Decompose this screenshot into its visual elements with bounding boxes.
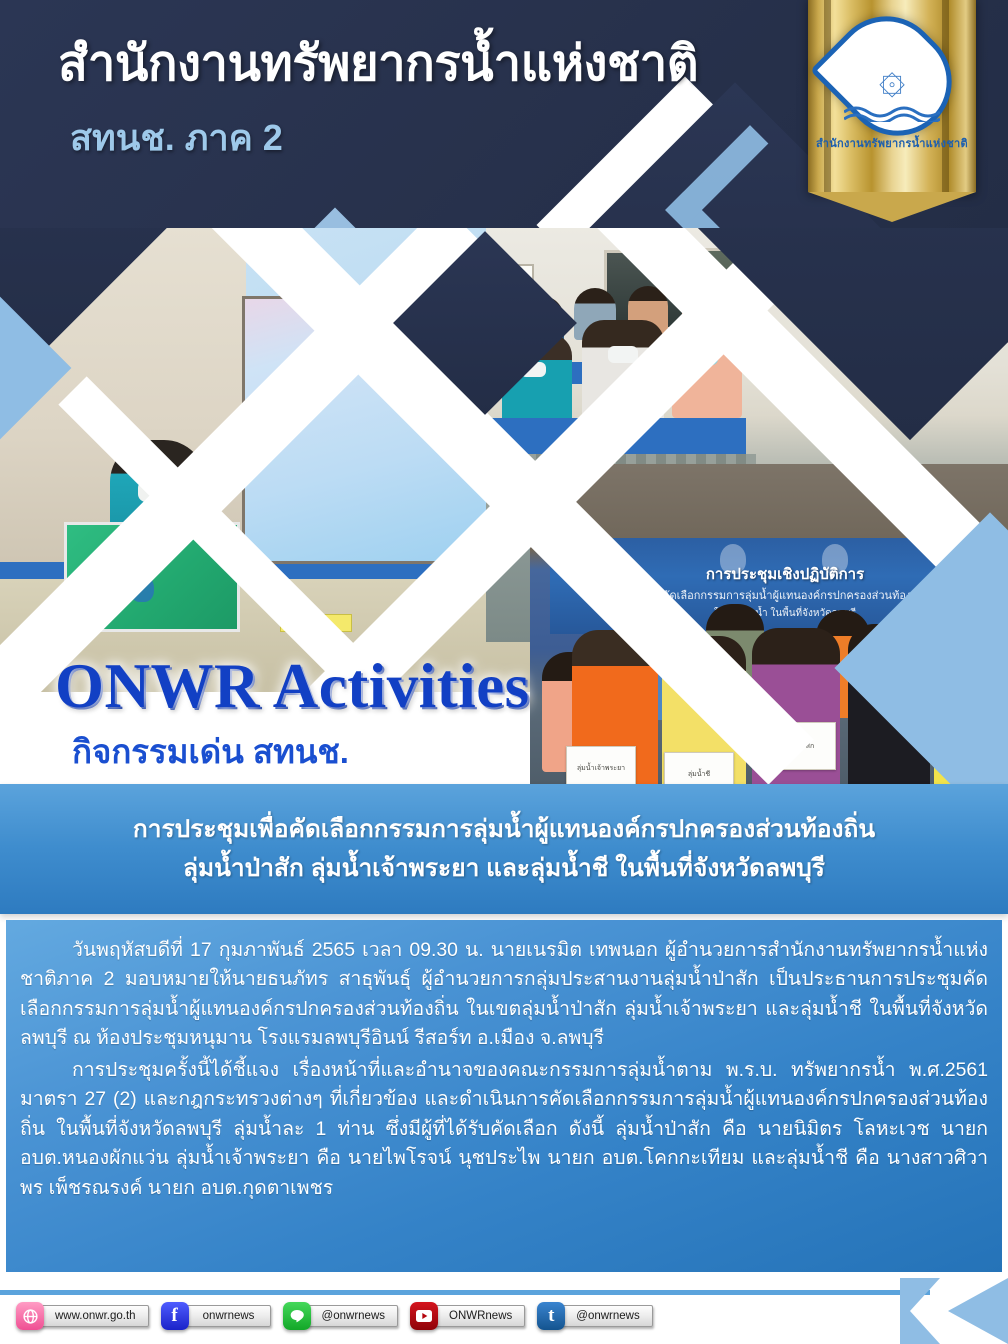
emblem-wave-icon: [844, 100, 940, 122]
social-label-twitter: @onwrnews: [559, 1305, 652, 1327]
face-mask-icon: [608, 346, 638, 363]
footer-chevron-decor: [900, 1278, 1008, 1344]
subtitle-line-2: ลุ่มน้ำป่าสัก ลุ่มน้ำเจ้าพระยา และลุ่มน้…: [183, 852, 825, 885]
body-paragraph-1: วันพฤหัสบดีที่ 17 กุมภาพันธ์ 2565 เวลา 0…: [20, 936, 988, 1054]
emblem-band-left: [824, 0, 831, 192]
organization-subtitle: สทนช. ภาค 2: [70, 118, 283, 158]
certificate-card: ลุ่มน้ำชี: [664, 752, 734, 784]
onwr-emblem: ۞ สำนักงานทรัพยากรน้ำแห่งชาติ: [794, 0, 990, 208]
body-paragraph-1-text: วันพฤหัสบดีที่ 17 กุมภาพันธ์ 2565 เวลา 0…: [20, 939, 988, 1049]
body-paragraph-2: การประชุมครั้งนี้ได้ชี้แจง เรื่องหน้าที่…: [20, 1056, 988, 1203]
footer-divider: [0, 1290, 930, 1295]
facebook-icon: f: [161, 1302, 189, 1330]
social-link-line[interactable]: @onwrnews: [283, 1302, 398, 1330]
certificate-card: ลุ่มน้ำเจ้าพระยา: [566, 746, 636, 784]
social-link-twitter[interactable]: t @onwrnews: [537, 1302, 652, 1330]
photo-collage: ขั้นตอนการคัดเลือก จับสลาก ระบุคะแนน เฉพ…: [0, 228, 1008, 784]
header-decor-small-diamond: [286, 208, 385, 228]
twitter-icon: t: [537, 1302, 565, 1330]
subtitle-line-1: การประชุมเพื่อคัดเลือกกรรมการลุ่มน้ำผู้แ…: [133, 813, 875, 846]
subtitle-banner: การประชุมเพื่อคัดเลือกกรรมการลุ่มน้ำผู้แ…: [0, 784, 1008, 914]
social-label-youtube: ONWRnews: [432, 1305, 525, 1327]
line-icon: [283, 1302, 311, 1330]
social-links-row: www.onwr.go.th f onwrnews @onwrnews: [16, 1302, 653, 1330]
social-label-facebook: onwrnews: [183, 1305, 271, 1327]
footer-bar: www.onwr.go.th f onwrnews @onwrnews: [0, 1272, 1008, 1344]
website-icon: [16, 1302, 44, 1330]
organization-title: สำนักงานทรัพยากรน้ำแห่งชาติ: [58, 38, 698, 91]
social-link-youtube[interactable]: ONWRnews: [410, 1302, 525, 1330]
social-label-line: @onwrnews: [305, 1305, 398, 1327]
emblem-arc-label: สำนักงานทรัพยากรน้ำแห่งชาติ: [812, 134, 972, 152]
poster-root: สำนักงานทรัพยากรน้ำแห่งชาติ สทนช. ภาค 2 …: [0, 0, 1008, 1344]
social-link-website[interactable]: www.onwr.go.th: [16, 1302, 149, 1330]
body-text-panel: วันพฤหัสบดีที่ 17 กุมภาพันธ์ 2565 เวลา 0…: [6, 920, 1002, 1272]
emblem-crest-glyph: ۞: [879, 54, 905, 99]
body-paragraph-2-text: การประชุมครั้งนี้ได้ชี้แจง เรื่องหน้าที่…: [20, 1059, 988, 1199]
social-label-website: www.onwr.go.th: [38, 1305, 149, 1327]
social-link-facebook[interactable]: f onwrnews: [161, 1302, 271, 1330]
header-banner: สำนักงานทรัพยากรน้ำแห่งชาติ สทนช. ภาค 2 …: [0, 0, 1008, 228]
youtube-icon: [410, 1302, 438, 1330]
